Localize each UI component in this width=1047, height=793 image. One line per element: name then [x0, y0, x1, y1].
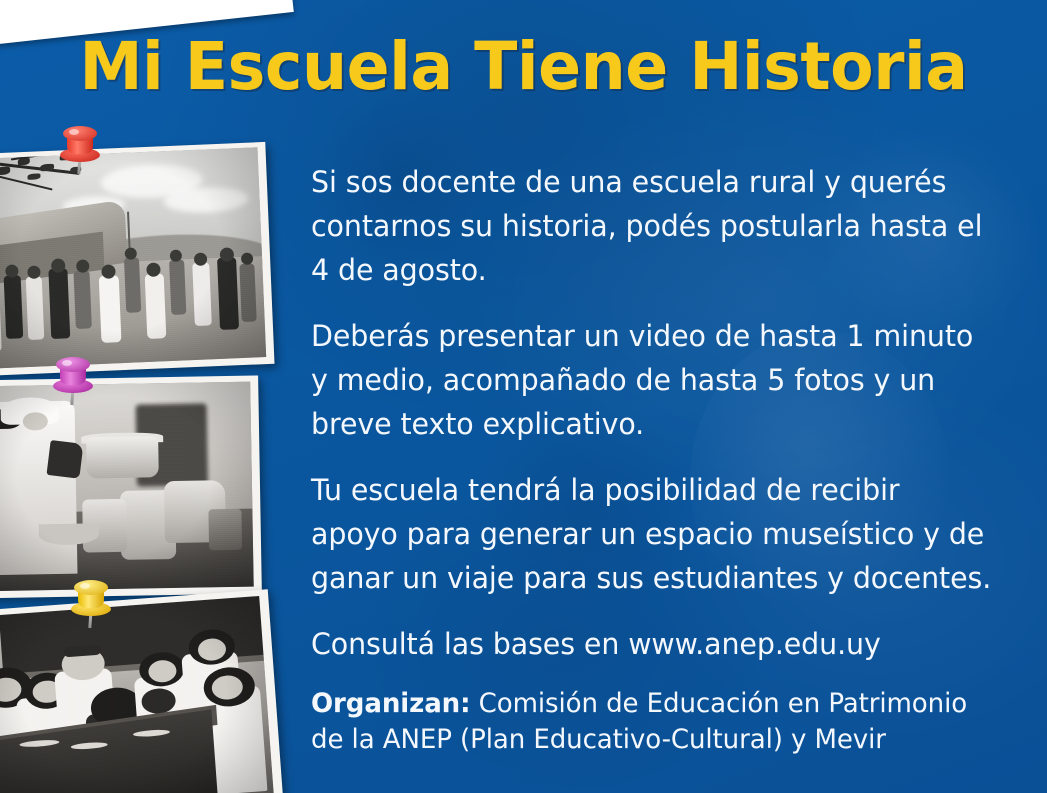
- photo2-artwork: [0, 382, 254, 592]
- photo1-child: [73, 270, 91, 329]
- photo1-child: [240, 263, 257, 322]
- photo-kitchen-image: [0, 382, 254, 592]
- photo1-child: [169, 260, 186, 315]
- photo1-child: [124, 257, 141, 312]
- photo2-pot: [86, 437, 158, 479]
- photo2-jar: [208, 509, 242, 551]
- photo1-tree: [0, 147, 127, 210]
- photo2-face: [22, 412, 47, 431]
- paragraph-website: Consultá las bases en www.anep.edu.uy: [311, 622, 992, 666]
- paragraph-submission: Deberás presentar un video de hasta 1 mi…: [311, 314, 992, 446]
- photo1-child: [217, 257, 239, 329]
- poster-canvas: Mi Escuela Tiene Historia Si sos docente…: [0, 0, 1047, 793]
- photo1-child: [144, 273, 166, 339]
- photo2-cloth: [46, 440, 83, 479]
- paragraph-requirements: Si sos docente de una escuela rural y qu…: [311, 160, 992, 292]
- paragraph-organizers: Organizan: Comisión de Educación en Patr…: [311, 686, 992, 758]
- photo1-child: [192, 263, 212, 327]
- photo-kitchen: [0, 375, 262, 598]
- photo-classroom-meal-image: [0, 596, 274, 793]
- poster-body-text: Si sos docente de una escuela rural y qu…: [311, 160, 1017, 758]
- photo1-artwork: [0, 147, 266, 369]
- photo1-child: [26, 276, 45, 340]
- photo-classroom-meal: [0, 589, 283, 793]
- organizers-label: Organizan:: [311, 688, 470, 719]
- poster-title: Mi Escuela Tiene Historia: [21, 28, 1026, 105]
- photo-children-circle: [0, 142, 275, 376]
- photo1-child: [3, 275, 23, 339]
- photo-children-circle-image: [0, 147, 266, 369]
- paragraph-prize: Tu escuela tendrá la posibilidad de reci…: [311, 468, 992, 600]
- photo1-child: [99, 275, 122, 343]
- photo1-child: [48, 269, 70, 339]
- photo3-artwork: [0, 596, 274, 793]
